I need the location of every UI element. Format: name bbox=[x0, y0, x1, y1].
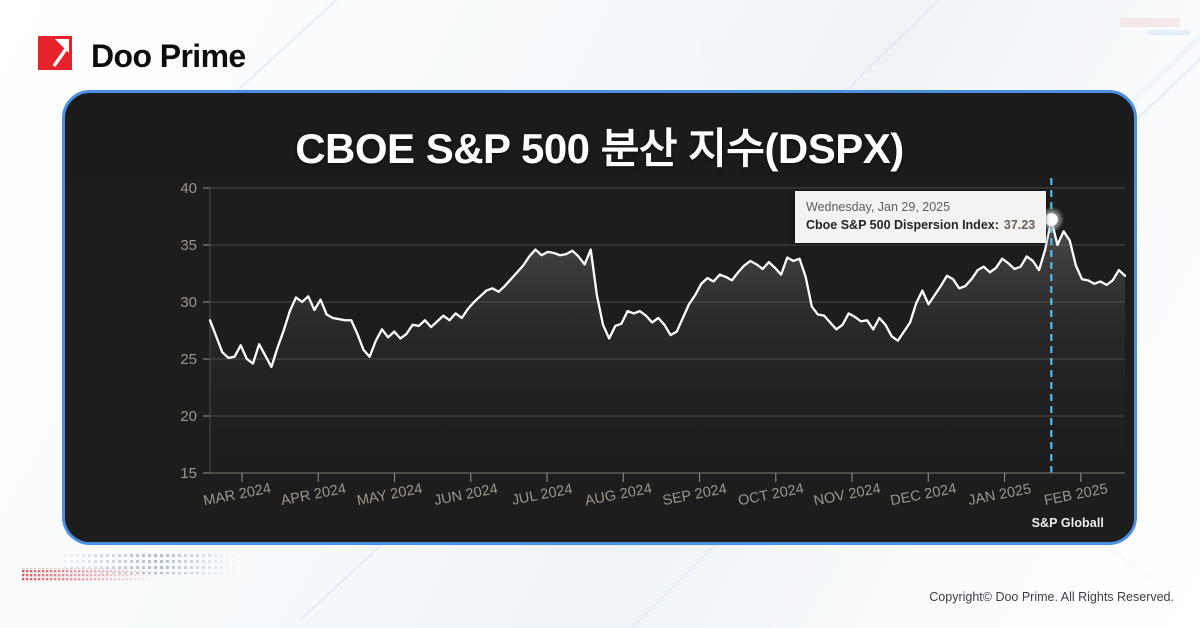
y-tick-label: 40 bbox=[180, 180, 197, 197]
chart-tooltip: Wednesday, Jan 29, 2025 Cboe S&P 500 Dis… bbox=[795, 191, 1046, 243]
y-tick-label: 30 bbox=[180, 294, 197, 311]
brand-logo: Doo Prime bbox=[38, 36, 246, 76]
y-tick-label: 15 bbox=[180, 465, 197, 482]
chart-card: CBOE S&P 500 분산 지수(DSPX) 403530252015 bbox=[62, 90, 1137, 545]
decorative-dot-strip bbox=[22, 554, 237, 590]
y-tick-label: 25 bbox=[180, 351, 197, 368]
tooltip-metric: Cboe S&P 500 Dispersion Index:37.23 bbox=[806, 216, 1035, 235]
tooltip-metric-label: Cboe S&P 500 Dispersion Index: bbox=[806, 218, 999, 232]
y-tick-label: 35 bbox=[180, 237, 197, 254]
doo-prime-flag-mark-icon bbox=[38, 36, 78, 76]
y-tick-label: 20 bbox=[180, 408, 197, 425]
tooltip-date: Wednesday, Jan 29, 2025 bbox=[806, 198, 1035, 216]
footer-copyright: Copyright© Doo Prime. All Rights Reserve… bbox=[929, 590, 1174, 604]
page-title: CBOE S&P 500 분산 지수(DSPX) bbox=[65, 115, 1134, 176]
brand-name: Doo Prime bbox=[91, 40, 246, 72]
chart-attribution: S&P Globall bbox=[1032, 516, 1104, 530]
tooltip-metric-value: 37.23 bbox=[1004, 218, 1035, 232]
chart-highlight-marker bbox=[1045, 213, 1058, 226]
